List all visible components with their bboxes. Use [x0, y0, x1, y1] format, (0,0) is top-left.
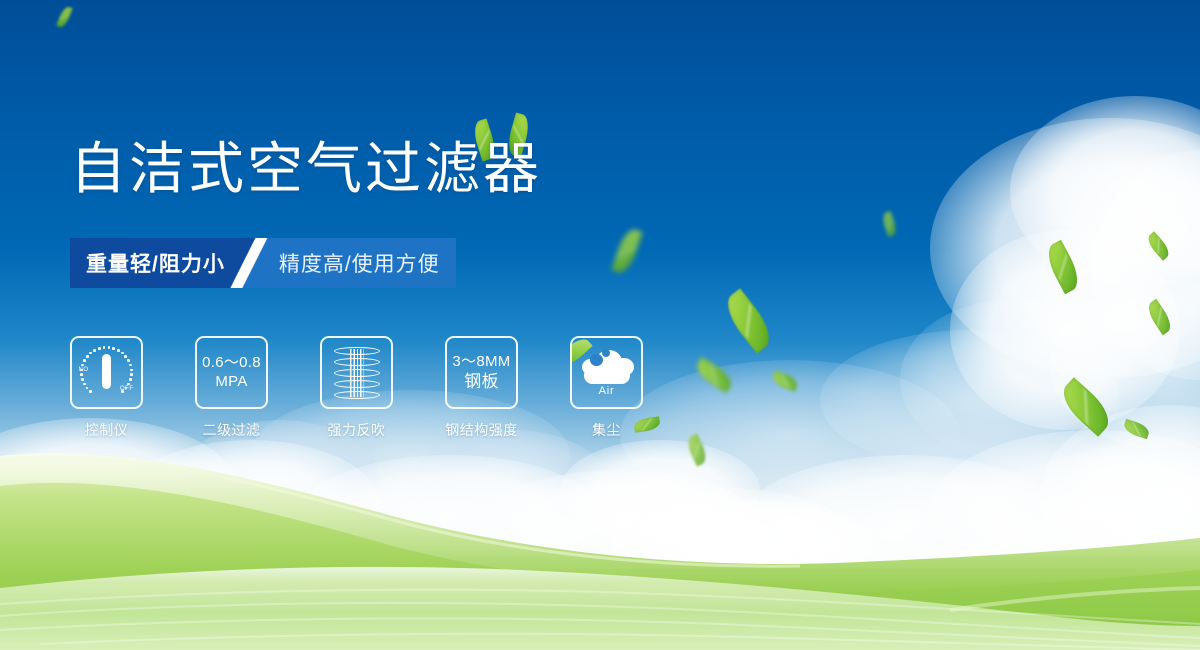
cloud-shape [900, 300, 1120, 460]
leaf-blade [719, 288, 778, 353]
cloud-shape [560, 440, 760, 540]
gauge-tick-dot [117, 349, 120, 352]
gauge-tick-dot [108, 346, 111, 349]
floating-leaf [692, 357, 735, 393]
cloud-puff [590, 354, 603, 366]
steel-plate-text: 钢板 [464, 371, 499, 392]
subtitle-bar: 重量轻/阻力小 精度高/使用方便 [70, 238, 462, 288]
coil-ring [334, 369, 380, 377]
gauge-tick-dot [80, 369, 83, 372]
feature-box: 3～8MM 钢板 [445, 336, 518, 409]
gauge-tick-dot [81, 378, 84, 381]
air-label: Air [599, 385, 615, 397]
leaf-vein [773, 372, 798, 391]
cloud-shape [610, 488, 850, 588]
gauge-tick-dot [121, 352, 124, 355]
gauge-tick-dot [129, 364, 132, 367]
feature-box: Air [570, 336, 643, 409]
feature-item-blowback[interactable]: 强力反吹 [320, 336, 393, 440]
cloud-puff [602, 349, 610, 357]
cloud-shape [1040, 405, 1200, 585]
leaf-blade [1042, 240, 1085, 294]
coil-ring [334, 358, 380, 366]
floating-leaf [611, 226, 642, 275]
floating-leaf [719, 288, 778, 353]
leaf-vein [696, 360, 732, 391]
gauge-tick-dot [124, 355, 127, 358]
feature-caption: 强力反吹 [328, 420, 386, 440]
coil-ring [334, 347, 380, 355]
gauge-tick-dot [89, 352, 92, 355]
cloud-shape [1050, 280, 1200, 450]
floating-leaf [1042, 240, 1085, 294]
coil-ring [334, 380, 380, 388]
cloud-shape [410, 430, 610, 540]
coil-ring [334, 391, 380, 399]
feature-box: 0.6～0.8 MPA [195, 336, 268, 409]
gauge-tick-dot [130, 373, 133, 376]
feature-item-dust[interactable]: Air 集尘 [570, 336, 643, 440]
feature-box [320, 336, 393, 409]
subtitle-left-text: 重量轻/阻力小 [70, 238, 243, 288]
gauge-tick-dot [86, 387, 89, 390]
cloud-shape [950, 230, 1180, 430]
gauge-tick-dot [103, 346, 106, 349]
gauge-tick-dot [83, 383, 86, 386]
feature-item-steel[interactable]: 3～8MM 钢板 钢结构强度 [445, 336, 518, 440]
floating-leaf [1144, 299, 1175, 336]
cloud-shape [655, 500, 875, 590]
feature-icon-row: NO OFF 控制仪 0.6～0.8 MPA 二级过滤 [70, 336, 643, 440]
feature-item-filtration[interactable]: 0.6～0.8 MPA 二级过滤 [195, 336, 268, 440]
gauge-tick-dot [127, 359, 130, 362]
gauge-tick-dot [83, 359, 86, 362]
subtitle-right-text: 精度高/使用方便 [259, 238, 456, 288]
feature-caption: 钢结构强度 [445, 420, 518, 440]
leaf-vein [1045, 244, 1081, 290]
feature-caption: 集尘 [592, 420, 621, 440]
leaf-vein [882, 213, 898, 235]
leaf-vein [1124, 420, 1148, 437]
cloud-shape [480, 470, 760, 580]
gauge-tick-dot [130, 369, 133, 372]
gauge-tick-dot [129, 378, 132, 381]
cloud-puff [614, 358, 634, 376]
grass-meadow [0, 420, 1200, 650]
leaf-blade [1055, 377, 1117, 437]
leaf-blade [1122, 419, 1151, 439]
leaf-vein [1146, 302, 1172, 333]
cloud-shape [300, 455, 600, 575]
cloud-shape [850, 415, 1070, 545]
cloud-shape [930, 430, 1200, 590]
floating-leaf [1122, 419, 1151, 439]
leaf-vein [614, 230, 640, 271]
gauge-tick-dot [127, 383, 130, 386]
leaf-blade [1144, 231, 1172, 261]
feature-caption: 二级过滤 [203, 420, 261, 440]
leaf-blade [880, 211, 899, 237]
gauge-tick-dot [86, 355, 89, 358]
cloud-shape [0, 470, 240, 580]
leaf-vein [58, 7, 72, 27]
leaf-blade [770, 370, 799, 392]
leaf-vein [686, 436, 707, 464]
product-banner: 自洁式空气过滤器 重量轻/阻力小 精度高/使用方便 NO OFF 控制仪 0.6… [0, 0, 1200, 650]
gauge-tick-dot [112, 347, 115, 350]
page-title: 自洁式空气过滤器 [70, 140, 542, 199]
leaf-blade [1144, 299, 1175, 336]
gauge-tick-dot [93, 349, 96, 352]
feature-caption: 控制仪 [85, 420, 129, 440]
gauge-tick-dot [89, 390, 92, 393]
air-cloud-icon [580, 348, 634, 384]
gauge-tick-dot [80, 373, 83, 376]
cloud-shape [120, 440, 380, 570]
leaf-vein [1060, 382, 1112, 432]
cloud-shape [740, 455, 1070, 595]
cloud-shape [820, 330, 1120, 470]
gauge-needle [102, 354, 111, 389]
floating-leaf [56, 5, 73, 29]
pressure-unit-text: MPA [215, 373, 247, 392]
leaf-blade [692, 357, 735, 393]
title-block: 自洁式空气过滤器 [70, 140, 542, 199]
gauge-tick-dot [121, 390, 124, 393]
feature-item-control[interactable]: NO OFF 控制仪 [70, 336, 143, 440]
leaf-vein [724, 294, 774, 349]
cloud-shape [1010, 96, 1200, 286]
floating-leaf [770, 370, 799, 392]
cloud-shape [930, 118, 1200, 378]
leaf-blade [56, 5, 73, 29]
floating-leaf [684, 433, 709, 466]
floating-leaf [1144, 231, 1172, 261]
leaf-vein [1147, 234, 1171, 259]
floating-leaf [880, 211, 899, 237]
cloud-shape [620, 360, 960, 510]
leaf-blade [611, 226, 642, 275]
leaf-blade [684, 433, 709, 466]
pressure-range-text: 0.6～0.8 [202, 354, 261, 373]
feature-box: NO OFF [70, 336, 143, 409]
cloud-shape [1090, 150, 1200, 380]
steel-thickness-text: 3～8MM [452, 353, 510, 372]
floating-leaf [1055, 377, 1117, 437]
filter-coil-icon [334, 347, 380, 399]
gauge-tick-dot [98, 347, 101, 350]
cloud-shape [0, 418, 240, 568]
gauge-dial-icon: NO OFF [78, 344, 136, 402]
